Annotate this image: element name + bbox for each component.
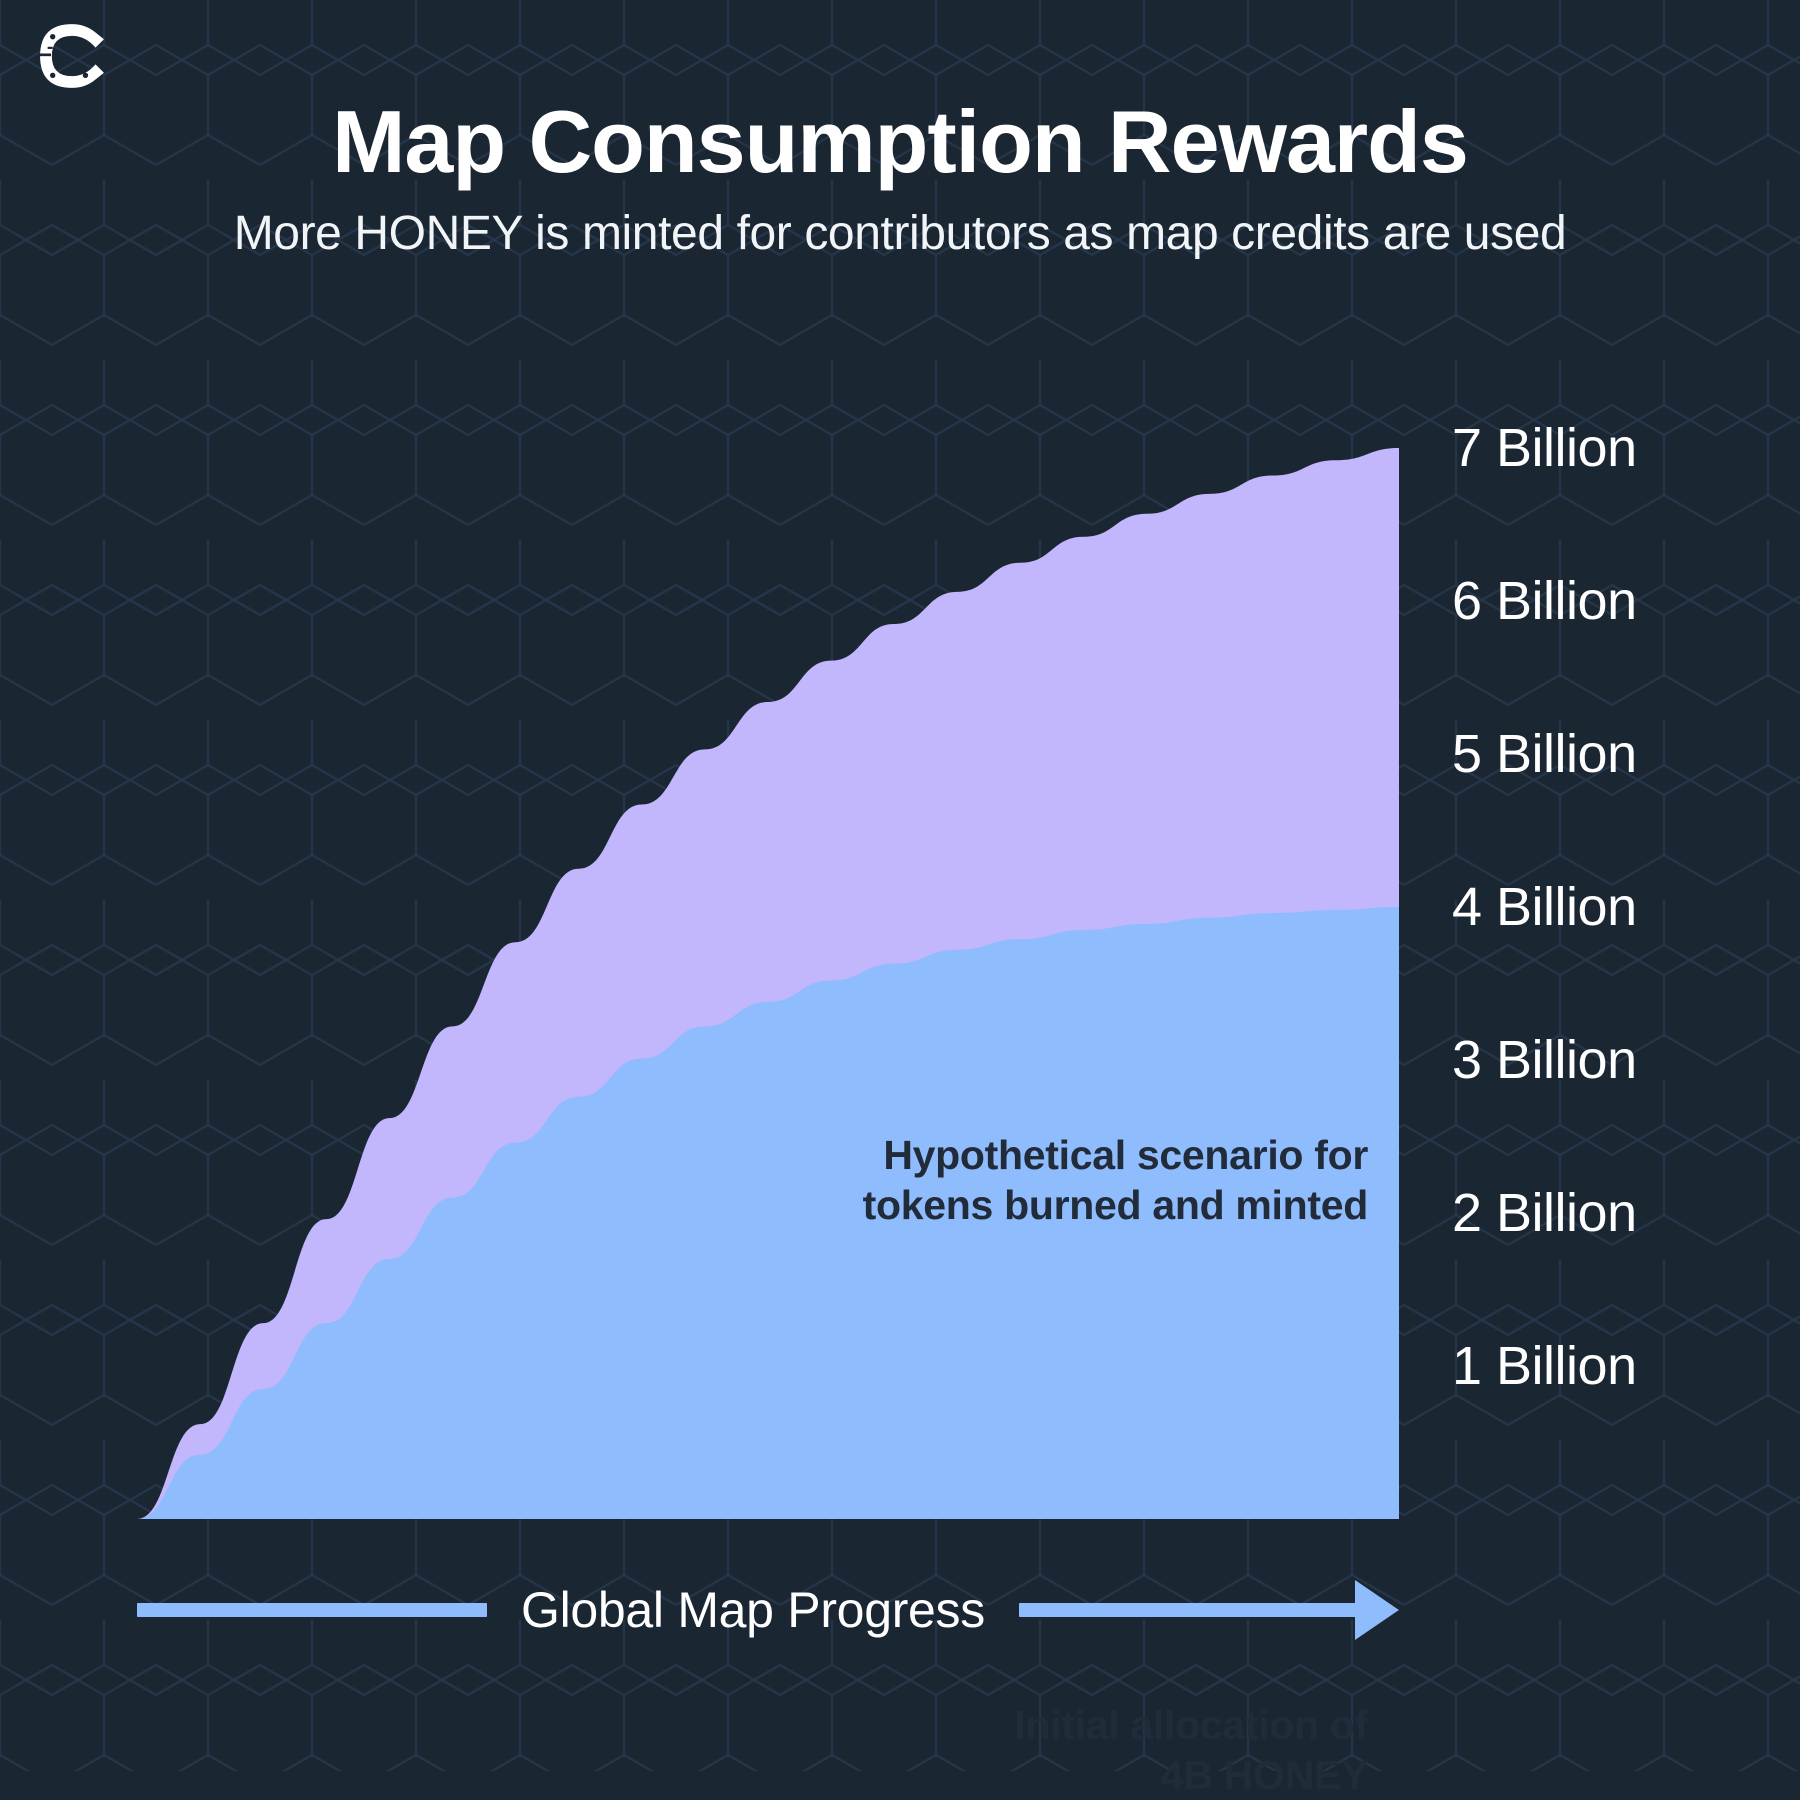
x-axis-line-left <box>137 1603 487 1617</box>
page-title: Map Consumption Rewards <box>0 96 1800 188</box>
x-axis-arrow-right-icon <box>1019 1580 1399 1640</box>
chart-series-group <box>137 448 1399 1519</box>
x-axis: Global Map Progress <box>137 1575 1399 1645</box>
page-subtitle: More HONEY is minted for contributors as… <box>0 206 1800 261</box>
arrow-head-icon <box>1355 1580 1399 1640</box>
header: Map Consumption Rewards More HONEY is mi… <box>0 96 1800 261</box>
stacked-area-chart <box>0 330 1800 1620</box>
x-axis-line-right <box>1019 1603 1357 1617</box>
x-axis-label: Global Map Progress <box>521 1581 985 1639</box>
annotation-hypothetical-scenario: Hypothetical scenario for tokens burned … <box>748 1130 1368 1230</box>
chart-area: Hypothetical scenario for tokens burned … <box>0 330 1800 1620</box>
annotation-initial-allocation: Initial allocation of 4B HONEY <box>748 1700 1368 1800</box>
hivemapper-c-logo-icon <box>30 14 114 98</box>
